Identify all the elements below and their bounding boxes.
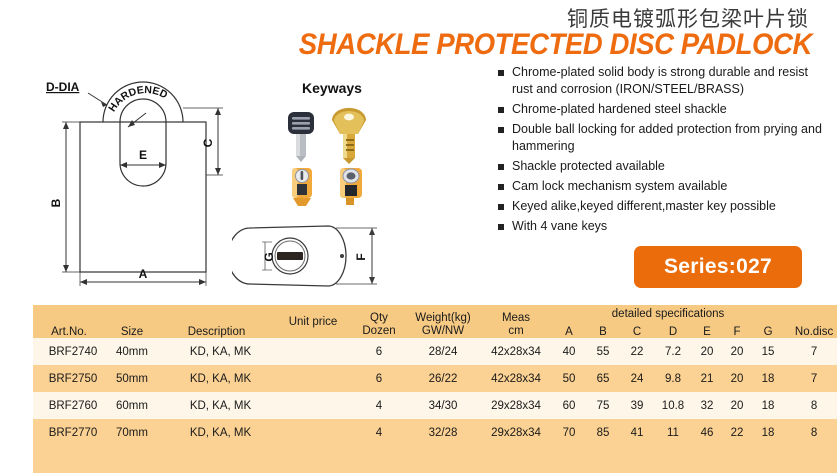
bullet-square-icon (498, 107, 504, 113)
col-size: Size (121, 326, 143, 338)
col-spec-e: E (703, 326, 711, 338)
col-spec-a: A (565, 326, 573, 338)
bullet-square-icon (498, 127, 504, 133)
feature-item: With 4 vane keys (498, 218, 832, 235)
specification-table: Art.No. Size Description Unit price Qty … (33, 305, 837, 473)
label-d-dia: D-DIA (46, 80, 80, 94)
col-weight-line1: Weight(kg) (415, 312, 470, 324)
label-c: C (201, 138, 215, 147)
cylinder-angled-icon (340, 168, 362, 205)
feature-item: Shackle protected available (498, 158, 832, 175)
label-b: B (49, 198, 63, 207)
table-row: BRF2740 40mm KD, KA, MK 6 28/24 42x28x34… (33, 338, 837, 365)
bullet-square-icon (498, 224, 504, 230)
english-title: SHACKLE PROTECTED DISC PADLOCK (65, 28, 812, 62)
feature-item: Chrome-plated solid body is strong durab… (498, 64, 832, 98)
cylinder-front-icon (292, 168, 312, 206)
feature-item: Cam lock mechanism system available (498, 178, 832, 195)
col-weight-line2: GW/NW (422, 325, 464, 337)
series-badge: Series:027 (634, 246, 802, 288)
label-e: E (139, 148, 147, 162)
col-spec-d: D (669, 326, 677, 338)
key-brass-head-icon (332, 108, 366, 164)
col-description: Description (188, 326, 246, 338)
col-art-no: Art.No. (51, 326, 87, 338)
bullet-square-icon (498, 184, 504, 190)
table-header-group-row: Art.No. Size Description Unit price Qty … (33, 305, 837, 320)
col-spec-g: G (764, 326, 773, 338)
label-a: A (139, 267, 148, 281)
key-dark-head-icon (288, 112, 314, 162)
keyways-illustration: Keyways (272, 80, 392, 210)
bullet-square-icon (498, 204, 504, 210)
col-spec-c: C (633, 326, 641, 338)
feature-item: Chrome-plated hardened steel shackle (498, 101, 832, 118)
bullet-square-icon (498, 164, 504, 170)
col-qty-line2: Dozen (362, 325, 395, 337)
feature-item: Keyed alike,keyed different,master key p… (498, 198, 832, 215)
col-qty-line1: Qty (370, 312, 388, 324)
table-row: BRF2760 60mm KD, KA, MK 4 34/30 29x28x34… (33, 392, 837, 419)
col-spec-f: F (733, 326, 740, 338)
col-no-disc: No.disc (795, 326, 833, 338)
table-row: BRF2750 50mm KD, KA, MK 6 26/22 42x28x34… (33, 365, 837, 392)
table-footer-band (33, 446, 837, 473)
col-detailed-specifications: detailed specifications (612, 308, 725, 320)
bullet-square-icon (498, 70, 504, 76)
feature-item: Double ball locking for added protection… (498, 121, 832, 155)
col-unit-price: Unit price (289, 316, 338, 328)
col-meas-line2: cm (508, 325, 523, 337)
col-meas-line1: Meas (502, 312, 530, 324)
col-spec-b: B (599, 326, 607, 338)
keyways-title: Keyways (272, 80, 392, 96)
padlock-bottom-view-diagram: G F (232, 216, 384, 300)
feature-list: Chrome-plated solid body is strong durab… (498, 64, 832, 238)
series-badge-label: Series:027 (664, 255, 772, 279)
label-g: G (262, 252, 276, 261)
label-f: F (354, 253, 368, 260)
table-row: BRF2770 70mm KD, KA, MK 4 32/28 29x28x34… (33, 419, 837, 446)
